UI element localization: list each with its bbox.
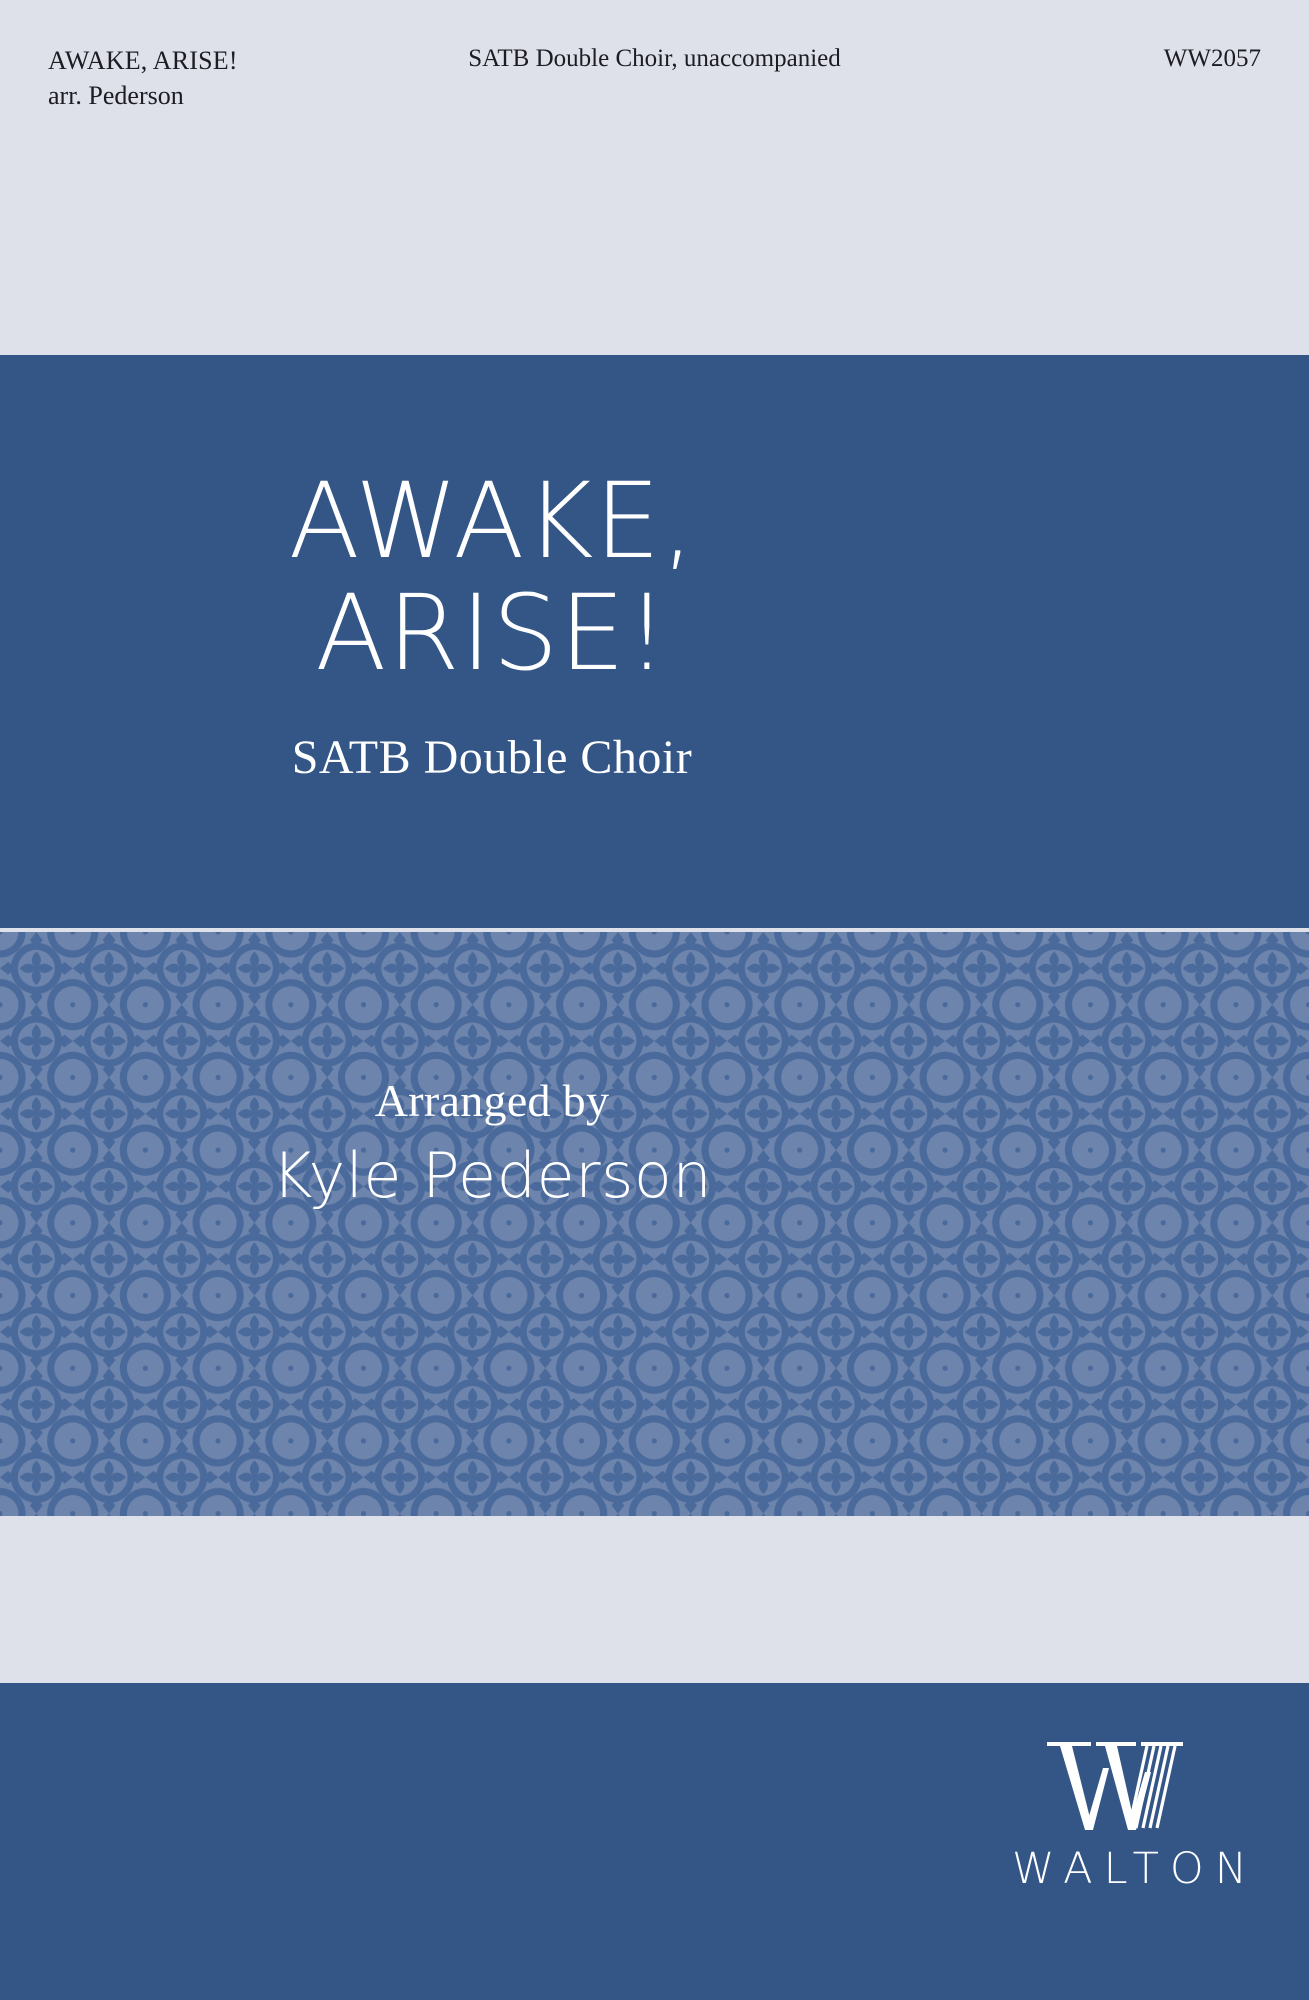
walton-w-icon [1041,1738,1191,1838]
arranger-name: Kyle Pederson [0,1139,1309,1212]
cover-title-line-1: AWAKE, [0,465,984,577]
title-band: AWAKE, ARISE! SATB Double Choir [0,355,1309,928]
cover-subtitle: SATB Double Choir [0,730,1309,785]
page-header: AWAKE, ARISE! arr. Pederson SATB Double … [0,0,1309,278]
arranger-credit-block: Arranged by Kyle Pederson [0,932,1309,1516]
arranged-by-label: Arranged by [0,1074,1309,1127]
walton-wordmark: WALTON [1001,1848,1231,1891]
header-arranger: arr. Pederson [48,79,238,114]
ornamental-pattern-band: Arranged by Kyle Pederson [0,932,1309,1516]
header-catalog-number: WW2057 [1164,45,1261,73]
cover-title-line-2: ARISE! [0,577,984,689]
header-voicing: SATB Double Choir, unaccompanied [0,45,1309,73]
light-divider-band [0,1516,1309,1683]
score-cover-page: AWAKE, ARISE! arr. Pederson SATB Double … [0,0,1309,2000]
title-band-content: AWAKE, ARISE! SATB Double Choir [0,355,1309,928]
cover-title: AWAKE, ARISE! [0,465,1309,690]
walton-logo: WALTON [1001,1738,1231,1891]
publisher-footer: WALTON [0,1683,1309,2000]
